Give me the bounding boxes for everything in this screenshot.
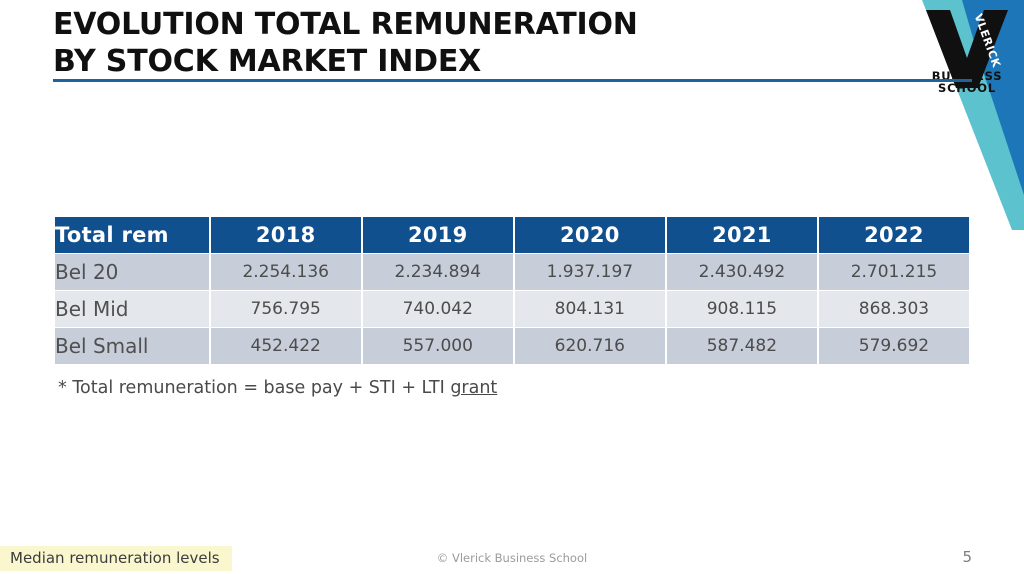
column-header-2019: 2019 (363, 217, 513, 253)
cell-belmid-2018: 756.795 (211, 291, 361, 327)
row-label-bel-mid: Bel Mid (55, 291, 209, 327)
cell-belmid-2020: 804.131 (515, 291, 665, 327)
cell-belsmall-2018: 452.422 (211, 328, 361, 364)
cell-belsmall-2022: 579.692 (819, 328, 969, 364)
column-header-2022: 2022 (819, 217, 969, 253)
cell-belsmall-2019: 557.000 (363, 328, 513, 364)
cell-belmid-2019: 740.042 (363, 291, 513, 327)
cell-bel20-2018: 2.254.136 (211, 254, 361, 290)
vlerick-logo: VLERICK BUSINESS SCHOOL (912, 2, 1022, 102)
remuneration-table-wrapper: Total rem 2018 2019 2020 2021 2022 Bel 2… (53, 216, 971, 365)
table-row: Bel Mid 756.795 740.042 804.131 908.115 … (55, 291, 969, 327)
cell-belmid-2021: 908.115 (667, 291, 817, 327)
row-label-bel-20: Bel 20 (55, 254, 209, 290)
cell-bel20-2022: 2.701.215 (819, 254, 969, 290)
table-header-row: Total rem 2018 2019 2020 2021 2022 (55, 217, 969, 253)
cell-bel20-2020: 1.937.197 (515, 254, 665, 290)
table-row: Bel 20 2.254.136 2.234.894 1.937.197 2.4… (55, 254, 969, 290)
row-label-bel-small: Bel Small (55, 328, 209, 364)
logo-line2-text: SCHOOL (938, 81, 996, 95)
copyright-text: © Vlerick Business School (0, 551, 1024, 565)
column-header-total-rem: Total rem (55, 217, 209, 253)
title-underline-rule (53, 79, 972, 82)
page-number: 5 (962, 548, 972, 566)
column-header-2020: 2020 (515, 217, 665, 253)
title-block: EVOLUTION TOTAL REMUNERATION BY STOCK MA… (53, 7, 753, 80)
cell-bel20-2019: 2.234.894 (363, 254, 513, 290)
cell-belmid-2022: 868.303 (819, 291, 969, 327)
table-footnote: * Total remuneration = base pay + STI + … (58, 378, 497, 398)
footnote-text: * Total remuneration = base pay + STI + … (58, 378, 450, 398)
slide: VLERICK BUSINESS SCHOOL EVOLUTION TOTAL … (0, 0, 1024, 574)
cell-bel20-2021: 2.430.492 (667, 254, 817, 290)
table-row: Bel Small 452.422 557.000 620.716 587.48… (55, 328, 969, 364)
remuneration-table: Total rem 2018 2019 2020 2021 2022 Bel 2… (53, 216, 971, 365)
column-header-2021: 2021 (667, 217, 817, 253)
footnote-underlined-word: grant (450, 378, 497, 398)
cell-belsmall-2021: 587.482 (667, 328, 817, 364)
page-title: EVOLUTION TOTAL REMUNERATION BY STOCK MA… (53, 7, 753, 80)
cell-belsmall-2020: 620.716 (515, 328, 665, 364)
column-header-2018: 2018 (211, 217, 361, 253)
